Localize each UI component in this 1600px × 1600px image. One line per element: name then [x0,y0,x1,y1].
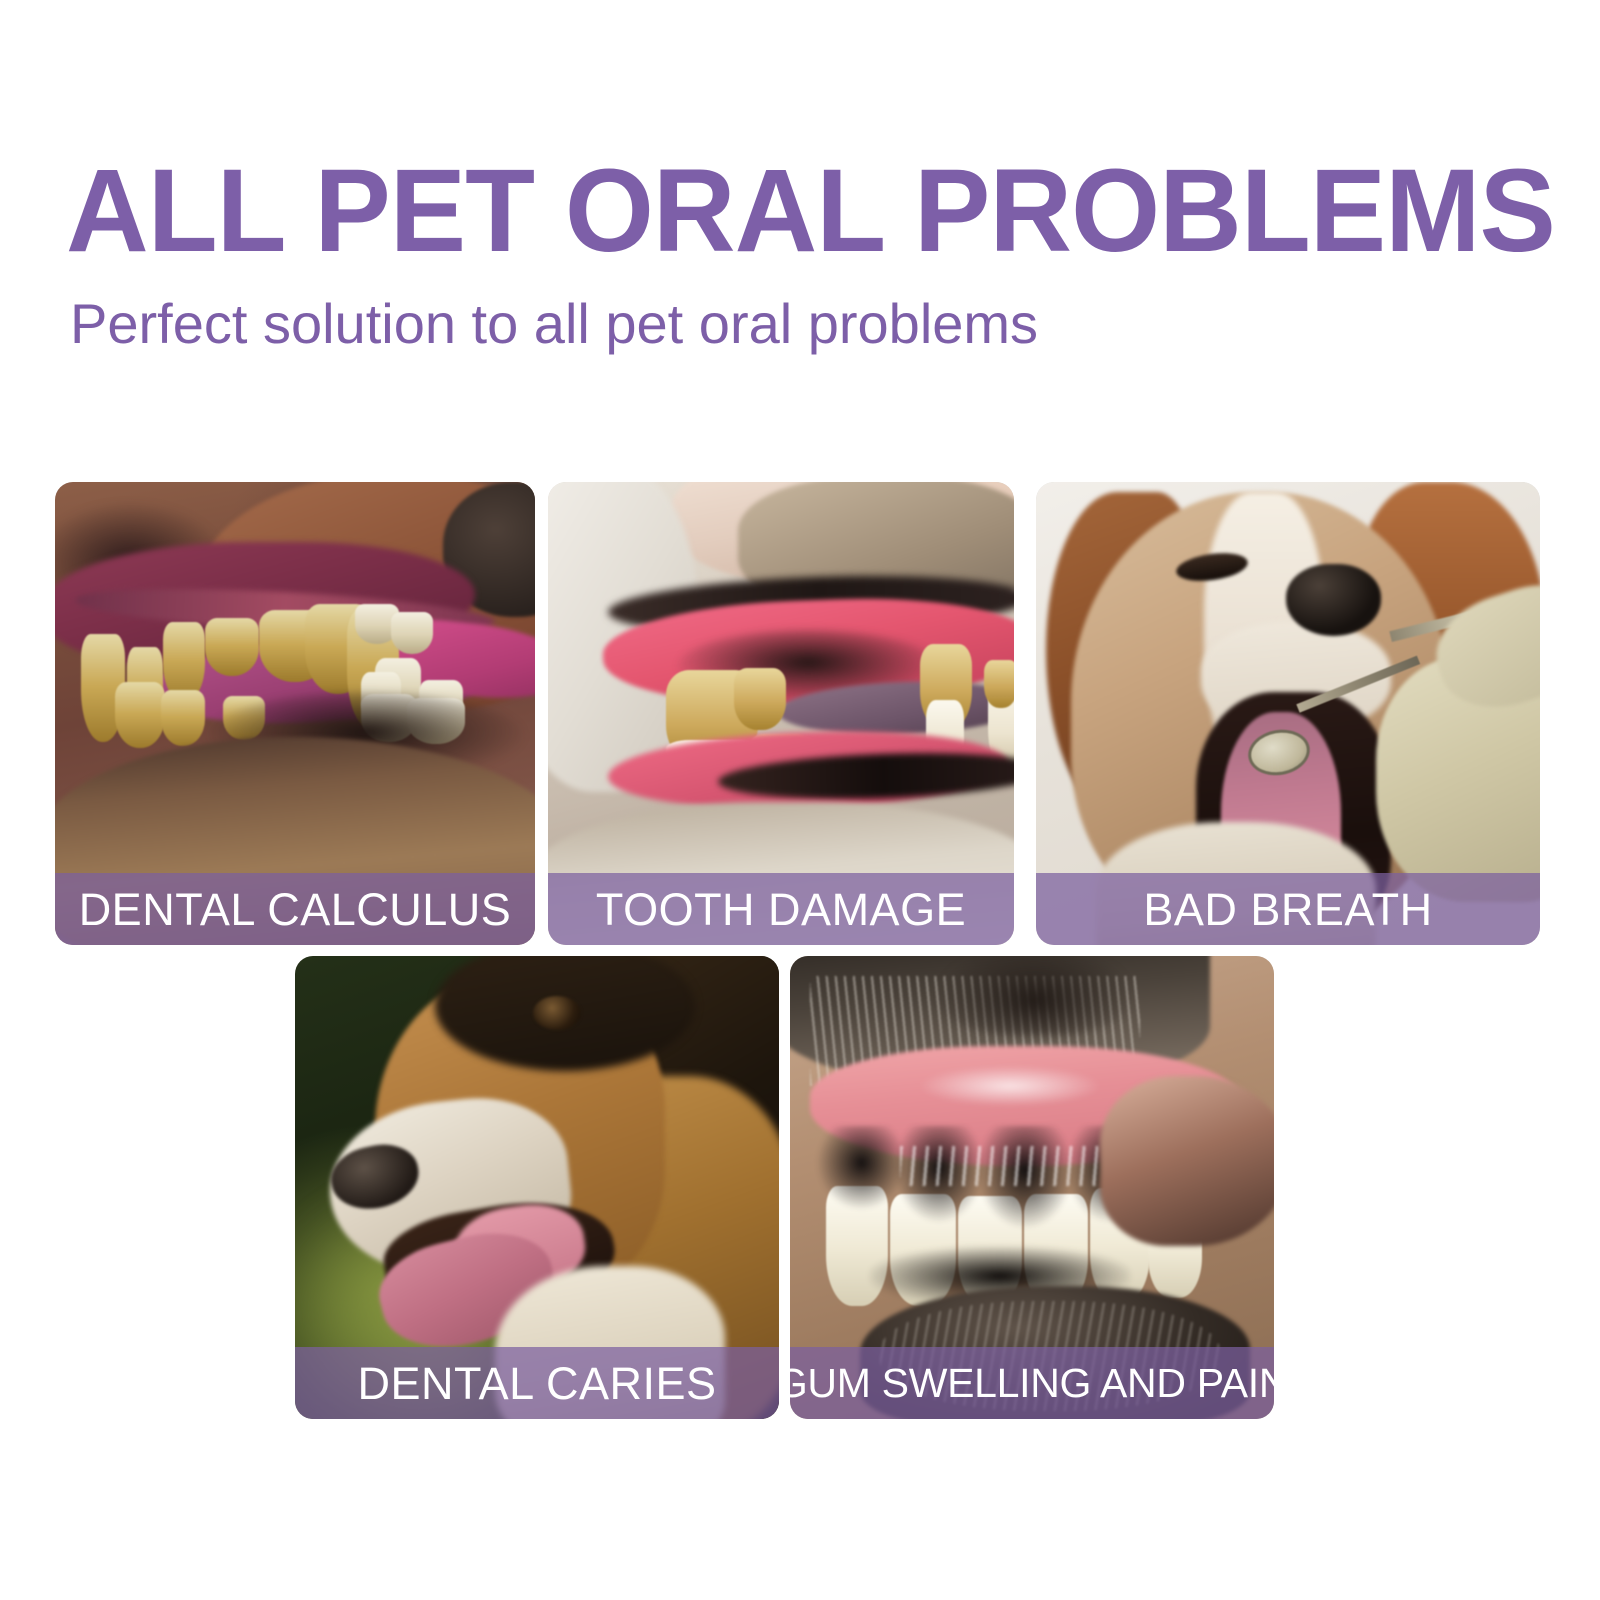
damaged-tooth [984,660,1014,708]
problem-card-tooth-damage[interactable]: TOOTH DAMAGE [548,482,1014,945]
problem-card-gum-swelling-and-pain[interactable]: GUM SWELLING AND PAIN [790,956,1274,1419]
card-caption-label: TOOTH DAMAGE [596,887,966,932]
page-title: ALL PET ORAL PROBLEMS [66,152,1555,270]
card-caption-bar: DENTAL CALCULUS [55,873,535,945]
card-caption-bar: BAD BREATH [1036,873,1540,945]
card-caption-bar: GUM SWELLING AND PAIN [790,1347,1274,1419]
dog-lip-flews-shape [1100,1076,1274,1246]
dog-nose-shadow [940,956,1130,1036]
damaged-tooth [734,668,786,730]
tartar-tooth [205,618,259,676]
problem-card-dental-calculus[interactable]: DENTAL CALCULUS [55,482,535,945]
gum-highlight [920,1066,1100,1106]
tartar-tooth [115,682,165,748]
tartar-tooth [161,690,205,746]
card-caption-label: DENTAL CALCULUS [79,887,512,932]
card-caption-label: BAD BREATH [1143,887,1432,932]
dog-nose-shape [1286,564,1381,636]
tooth [391,612,433,654]
problem-card-dental-caries[interactable]: DENTAL CARIES [295,956,779,1419]
card-caption-bar: DENTAL CARIES [295,1347,779,1419]
problem-card-bad-breath[interactable]: BAD BREATH [1036,482,1540,945]
page-subtitle: Perfect solution to all pet oral problem… [70,292,1038,356]
card-caption-label: DENTAL CARIES [357,1361,716,1406]
card-caption-label: GUM SWELLING AND PAIN [790,1361,1274,1406]
dog-eye-shape [533,996,581,1030]
card-caption-bar: TOOTH DAMAGE [548,873,1014,945]
